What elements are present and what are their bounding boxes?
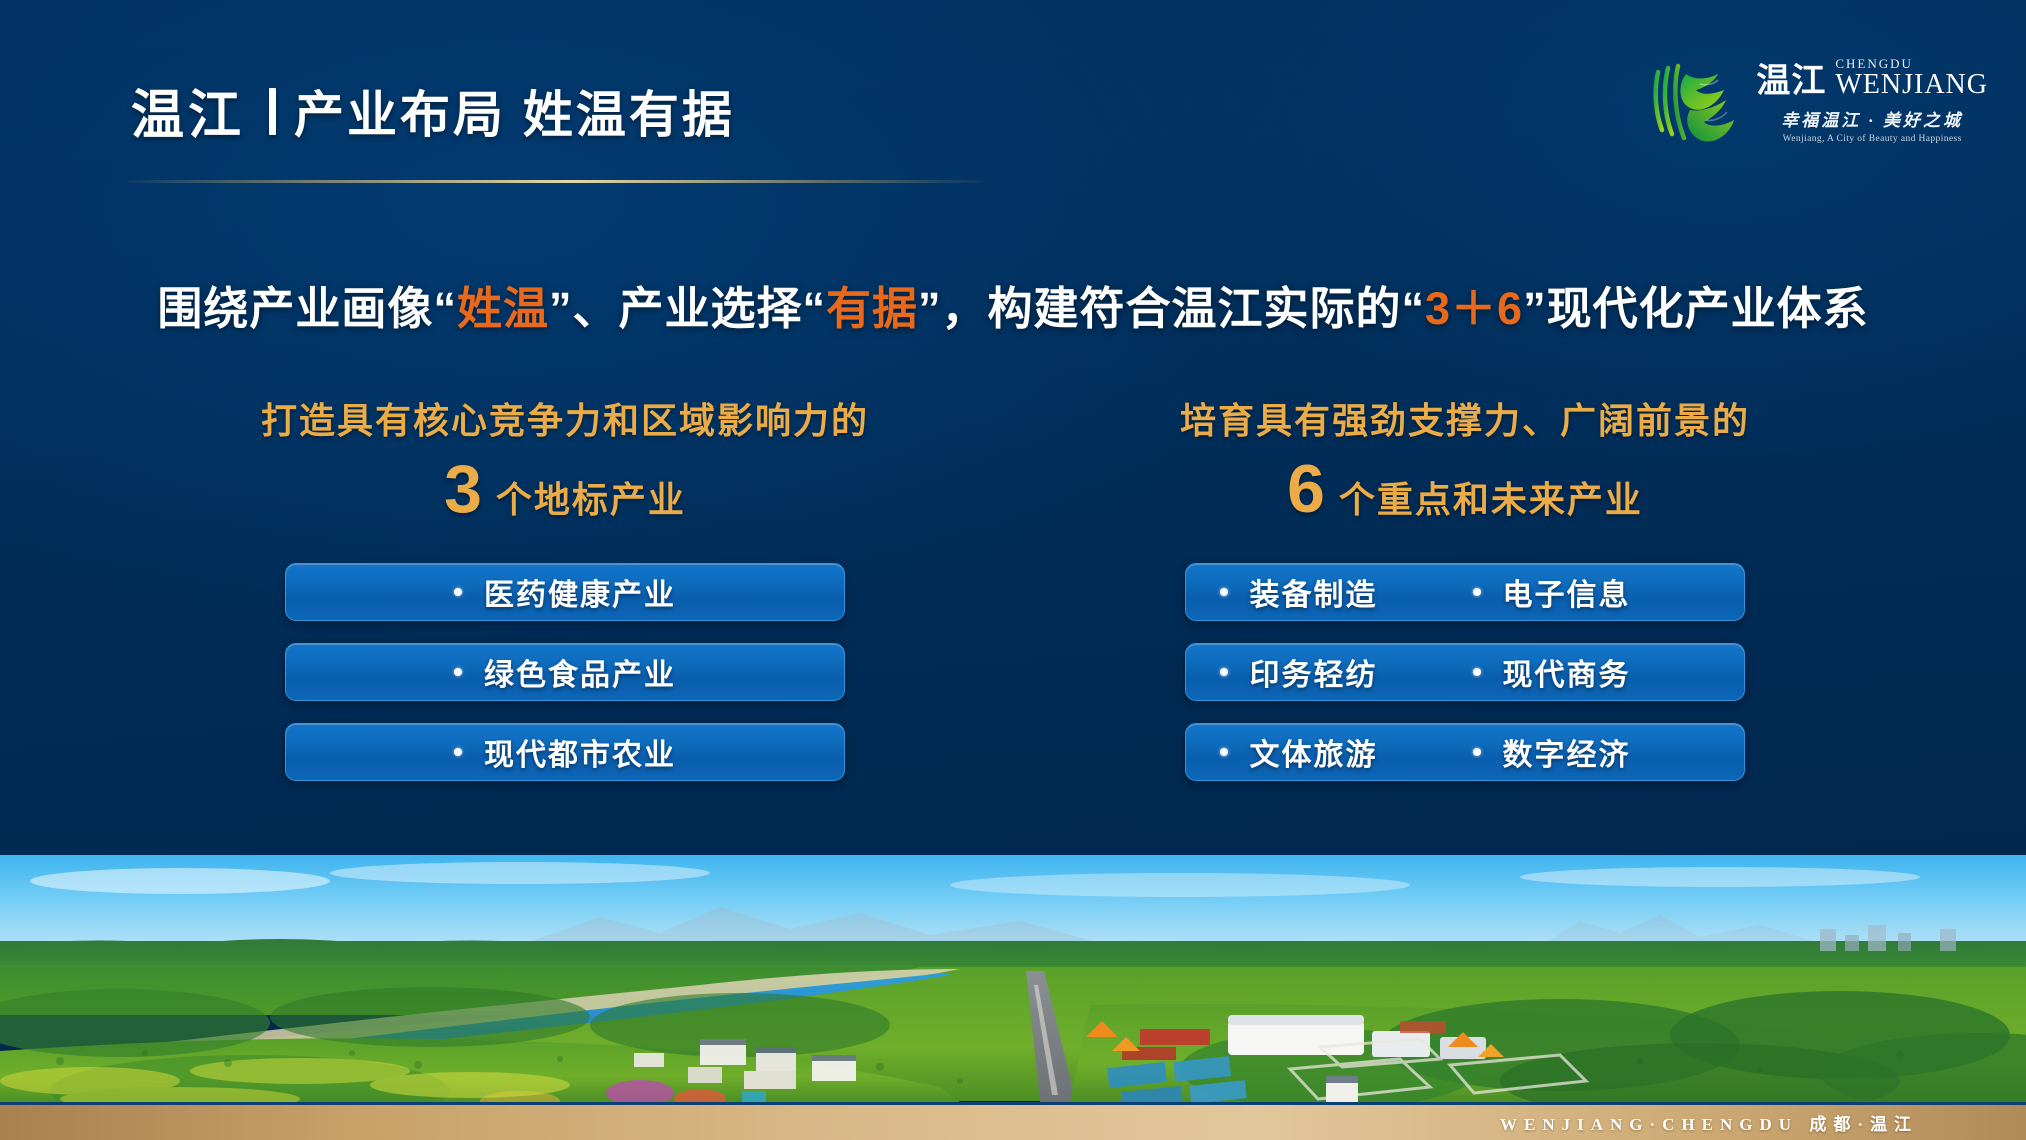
pill-label: 现代都市农业 (484, 730, 676, 774)
title-divider-bar (269, 88, 276, 135)
wenjiang-logo: 温江 CHENGDU WENJIANG 幸福温江 · 美好之城 Wenjiang… (1648, 54, 1988, 146)
column-count-label-right: 个重点和未来产业 (1339, 482, 1643, 518)
headline-part-4: 现代化产业体系 (1547, 283, 1869, 334)
column-count-number-left: 3 (444, 455, 482, 523)
logo-chengdu-text: CHENGDU (1835, 57, 1988, 70)
pill-label: 医药健康产业 (484, 570, 676, 614)
pill-row[interactable]: 医药健康产业 (285, 563, 845, 621)
wenjiang-aerial-landscape-photo (0, 855, 2026, 1102)
logo-tagline-cn: 幸福温江 · 美好之城 (1756, 106, 1988, 131)
pill-item[interactable]: 印务轻纺 (1220, 650, 1458, 694)
bullet-dot-icon (454, 588, 462, 596)
slide-footer-bar: WENJIANG·CHENGDU 成都·温江 (0, 1102, 2026, 1140)
bullet-dot-icon (1473, 748, 1481, 756)
headline-quote-close-3: ” (1523, 283, 1547, 334)
pill-row[interactable]: 装备制造 电子信息 (1185, 563, 1745, 621)
pill-item[interactable]: 医药健康产业 (454, 570, 676, 614)
pill-item[interactable]: 装备制造 (1220, 570, 1458, 614)
bullet-dot-icon (1220, 588, 1228, 596)
wenjiang-green-emblem-icon (1648, 54, 1744, 146)
headline-part-1: 围绕产业画像 (157, 283, 433, 334)
pill-label: 印务轻纺 (1250, 650, 1378, 694)
column-count-line-right: 6 个重点和未来产业 (1030, 455, 1900, 523)
slide-header: 温江 产业布局 姓温有据 (0, 0, 2026, 190)
headline-quote-open-2: “ (802, 283, 826, 334)
headline-quote-close-2: ” (918, 283, 942, 334)
headline-accent-2: 有据 (826, 283, 918, 334)
bullet-dot-icon (454, 748, 462, 756)
column-heading-right: 培育具有强劲支撑力、广阔前景的 (1030, 400, 1900, 441)
logo-wenjiang-text: WENJIANG (1835, 71, 1988, 99)
bullet-dot-icon (454, 668, 462, 676)
headline-accent-3: 3＋6 (1425, 283, 1523, 334)
headline-quote-close-1: ” (549, 283, 573, 334)
page-title: 温江 产业布局 姓温有据 (131, 73, 735, 149)
bullet-dot-icon (1220, 668, 1228, 676)
headline-statement: 围绕产业画像“姓温”、产业选择“有据”，构建符合温江实际的“3＋6”现代化产业体… (0, 272, 2026, 337)
pill-row[interactable]: 现代都市农业 (285, 723, 845, 781)
pill-item[interactable]: 现代都市农业 (454, 730, 676, 774)
pill-item[interactable]: 数字经济 (1473, 730, 1711, 774)
pill-list-right: 装备制造 电子信息 印务轻纺 现代商务 (1030, 563, 1900, 781)
column-count-label-left: 个地标产业 (496, 482, 686, 518)
pill-label: 绿色食品产业 (484, 650, 676, 694)
pill-row[interactable]: 绿色食品产业 (285, 643, 845, 701)
headline-accent-1: 姓温 (457, 283, 549, 334)
pill-label: 文体旅游 (1250, 730, 1378, 774)
bullet-dot-icon (1473, 668, 1481, 676)
logo-chinese-name: 温江 (1756, 65, 1826, 99)
pill-row[interactable]: 印务轻纺 现代商务 (1185, 643, 1745, 701)
pill-item[interactable]: 文体旅游 (1220, 730, 1458, 774)
slide-root: 温江 产业布局 姓温有据 (0, 0, 2026, 1140)
pill-list-left: 医药健康产业 绿色食品产业 现代都市农业 (130, 563, 1000, 781)
pill-row[interactable]: 文体旅游 数字经济 (1185, 723, 1745, 781)
pill-label: 装备制造 (1250, 570, 1378, 614)
column-count-number-right: 6 (1287, 455, 1325, 523)
column-heading-left: 打造具有核心竞争力和区域影响力的 (130, 400, 1000, 441)
logo-tagline-en: Wenjiang, A City of Beauty and Happiness (1756, 134, 1988, 144)
title-main-text: 温江 (131, 73, 245, 149)
logo-text-block: 温江 CHENGDU WENJIANG 幸福温江 · 美好之城 Wenjiang… (1756, 57, 1988, 144)
column-landmark-industries: 打造具有核心竞争力和区域影响力的 3 个地标产业 医药健康产业 绿色食品产业 (130, 400, 1000, 781)
headline-part-3: ，构建符合温江实际的 (941, 283, 1401, 334)
bullet-dot-icon (1473, 588, 1481, 596)
title-underline-rule (128, 180, 983, 183)
industry-columns: 打造具有核心竞争力和区域影响力的 3 个地标产业 医药健康产业 绿色食品产业 (0, 400, 2026, 800)
pill-item[interactable]: 现代商务 (1473, 650, 1711, 694)
headline-part-2: 、产业选择 (572, 283, 802, 334)
column-key-future-industries: 培育具有强劲支撑力、广阔前景的 6 个重点和未来产业 装备制造 电子信息 (1030, 400, 1900, 781)
pill-label: 电子信息 (1503, 570, 1631, 614)
pill-label: 数字经济 (1503, 730, 1631, 774)
headline-quote-open-1: “ (433, 283, 457, 334)
footer-text: WENJIANG·CHENGDU 成都·温江 (1500, 1110, 1918, 1135)
pill-item[interactable]: 绿色食品产业 (454, 650, 676, 694)
column-count-line-left: 3 个地标产业 (130, 455, 1000, 523)
pill-label: 现代商务 (1503, 650, 1631, 694)
headline-quote-open-3: “ (1402, 283, 1426, 334)
pill-item[interactable]: 电子信息 (1473, 570, 1711, 614)
bullet-dot-icon (1220, 748, 1228, 756)
title-sub-text: 产业布局 姓温有据 (294, 75, 735, 147)
landscape-illustration (0, 855, 2026, 1102)
